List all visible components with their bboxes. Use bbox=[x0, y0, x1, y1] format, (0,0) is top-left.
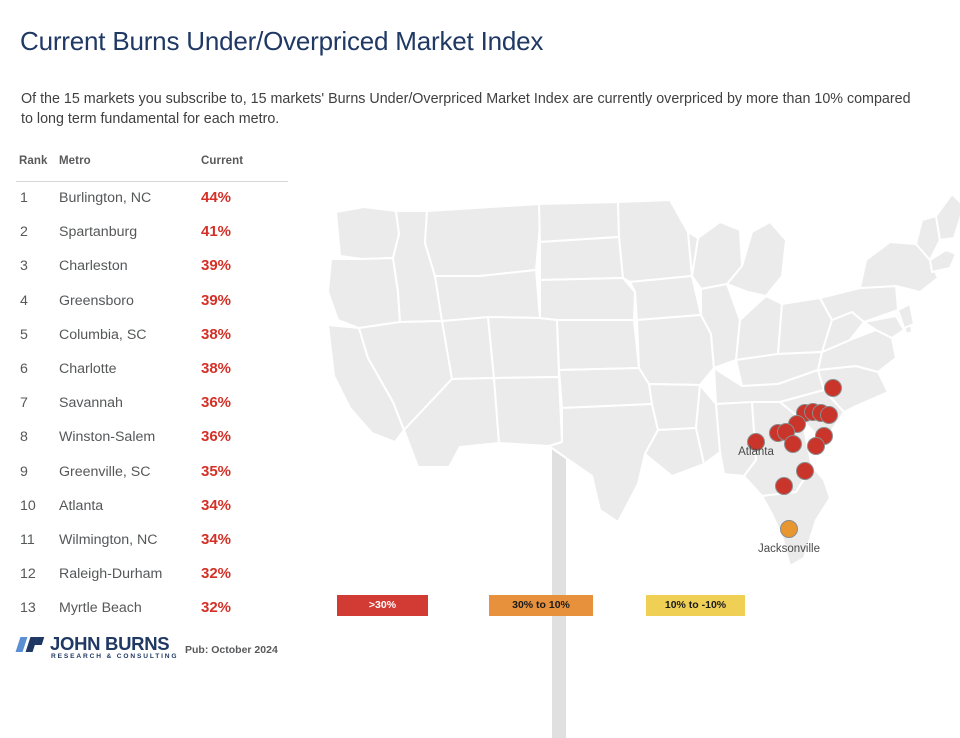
map-city-label: Atlanta bbox=[738, 446, 774, 458]
cell-current-value: 41% bbox=[201, 223, 231, 240]
table-row[interactable]: 6Charlotte38% bbox=[0, 354, 292, 388]
cell-rank: 13 bbox=[20, 600, 36, 616]
map-marker[interactable] bbox=[785, 436, 802, 453]
cell-metro: Charlotte bbox=[59, 361, 117, 377]
map-marker[interactable] bbox=[797, 463, 814, 480]
cell-rank: 12 bbox=[20, 566, 36, 582]
cell-current-value: 34% bbox=[201, 497, 231, 514]
cell-rank: 8 bbox=[20, 429, 28, 445]
table-row[interactable]: 8Winston-Salem36% bbox=[0, 422, 292, 456]
cell-rank: 6 bbox=[20, 361, 28, 377]
map-marker[interactable] bbox=[808, 438, 825, 455]
publication-date: Pub: October 2024 bbox=[185, 644, 278, 656]
cell-current-value: 32% bbox=[201, 565, 231, 582]
table-scrollbar-track[interactable] bbox=[276, 183, 290, 630]
page-subtitle: Of the 15 markets you subscribe to, 15 m… bbox=[21, 89, 921, 129]
map-city-label: Jacksonville bbox=[758, 543, 820, 555]
cell-rank: 7 bbox=[20, 395, 28, 411]
cell-metro: Wilmington, NC bbox=[59, 532, 158, 548]
cell-current-value: 36% bbox=[201, 428, 231, 445]
cell-current-value: 39% bbox=[201, 257, 231, 274]
map-marker[interactable] bbox=[821, 407, 838, 424]
table-body: 1Burlington, NC44%2Spartanburg41%3Charle… bbox=[0, 183, 292, 630]
column-header-metro: Metro bbox=[59, 155, 91, 167]
markets-table: Rank Metro Current 1Burlington, NC44%2Sp… bbox=[0, 155, 292, 630]
cell-rank: 4 bbox=[20, 293, 28, 309]
cell-metro: Raleigh-Durham bbox=[59, 566, 162, 582]
legend-item-30-to-10: 30% to 10% bbox=[489, 595, 593, 616]
cell-metro: Myrtle Beach bbox=[59, 600, 142, 616]
logo-slash-short bbox=[35, 637, 45, 645]
cell-metro: Greensboro bbox=[59, 293, 134, 309]
column-header-rank: Rank bbox=[19, 155, 48, 167]
table-header-row: Rank Metro Current bbox=[0, 155, 292, 181]
table-row[interactable]: 4Greensboro39% bbox=[0, 286, 292, 320]
cell-current-value: 39% bbox=[201, 292, 231, 309]
us-map: AtlantaJacksonville bbox=[300, 180, 960, 580]
map-land-shapes bbox=[328, 194, 960, 566]
table-row[interactable]: 12Raleigh-Durham32% bbox=[0, 559, 292, 593]
cell-rank: 9 bbox=[20, 464, 28, 480]
cell-metro: Savannah bbox=[59, 395, 123, 411]
cell-metro: Burlington, NC bbox=[59, 190, 151, 206]
cell-metro: Spartanburg bbox=[59, 224, 137, 240]
cell-current-value: 38% bbox=[201, 326, 231, 343]
cell-current-value: 35% bbox=[201, 463, 231, 480]
map-legend: >30% 30% to 10% 10% to -10% bbox=[337, 595, 757, 617]
map-svg: AtlantaJacksonville bbox=[300, 180, 960, 580]
table-row[interactable]: 13Myrtle Beach32% bbox=[0, 593, 292, 627]
cell-current-value: 34% bbox=[201, 531, 231, 548]
table-row[interactable]: 1Burlington, NC44% bbox=[0, 183, 292, 217]
cell-rank: 11 bbox=[20, 532, 35, 548]
table-row[interactable]: 7Savannah36% bbox=[0, 388, 292, 422]
logo-mark-icon bbox=[18, 637, 46, 652]
map-marker[interactable] bbox=[776, 478, 793, 495]
cell-rank: 5 bbox=[20, 327, 28, 343]
john-burns-logo: JOHN BURNS RESEARCH & CONSULTING bbox=[18, 634, 170, 662]
table-row[interactable]: 2Spartanburg41% bbox=[0, 217, 292, 251]
cell-metro: Greenville, SC bbox=[59, 464, 150, 480]
table-row[interactable]: 3Charleston39% bbox=[0, 251, 292, 285]
cell-metro: Charleston bbox=[59, 258, 128, 274]
logo-tagline: RESEARCH & CONSULTING bbox=[51, 653, 178, 660]
cell-metro: Atlanta bbox=[59, 498, 103, 514]
cell-rank: 1 bbox=[20, 190, 28, 206]
page-title: Current Burns Under/Overpriced Market In… bbox=[20, 26, 543, 57]
cell-current-value: 36% bbox=[201, 394, 231, 411]
column-header-current: Current bbox=[201, 155, 243, 167]
cell-current-value: 32% bbox=[201, 599, 231, 616]
cell-rank: 3 bbox=[20, 258, 28, 274]
cell-metro: Winston-Salem bbox=[59, 429, 155, 445]
cell-current-value: 44% bbox=[201, 189, 231, 206]
table-header-divider bbox=[16, 181, 288, 182]
legend-item-10-to-neg10: 10% to -10% bbox=[646, 595, 745, 616]
cell-rank: 2 bbox=[20, 224, 28, 240]
map-marker[interactable] bbox=[825, 380, 842, 397]
table-row[interactable]: 5Columbia, SC38% bbox=[0, 320, 292, 354]
legend-item-over-30: >30% bbox=[337, 595, 428, 616]
cell-rank: 10 bbox=[20, 498, 36, 514]
logo-name: JOHN BURNS bbox=[50, 633, 169, 655]
table-row[interactable]: 9Greenville, SC35% bbox=[0, 457, 292, 491]
map-marker[interactable] bbox=[781, 521, 798, 538]
cell-current-value: 38% bbox=[201, 360, 231, 377]
cell-metro: Columbia, SC bbox=[59, 327, 147, 343]
table-row[interactable]: 10Atlanta34% bbox=[0, 491, 292, 525]
table-row[interactable]: 11Wilmington, NC34% bbox=[0, 525, 292, 559]
